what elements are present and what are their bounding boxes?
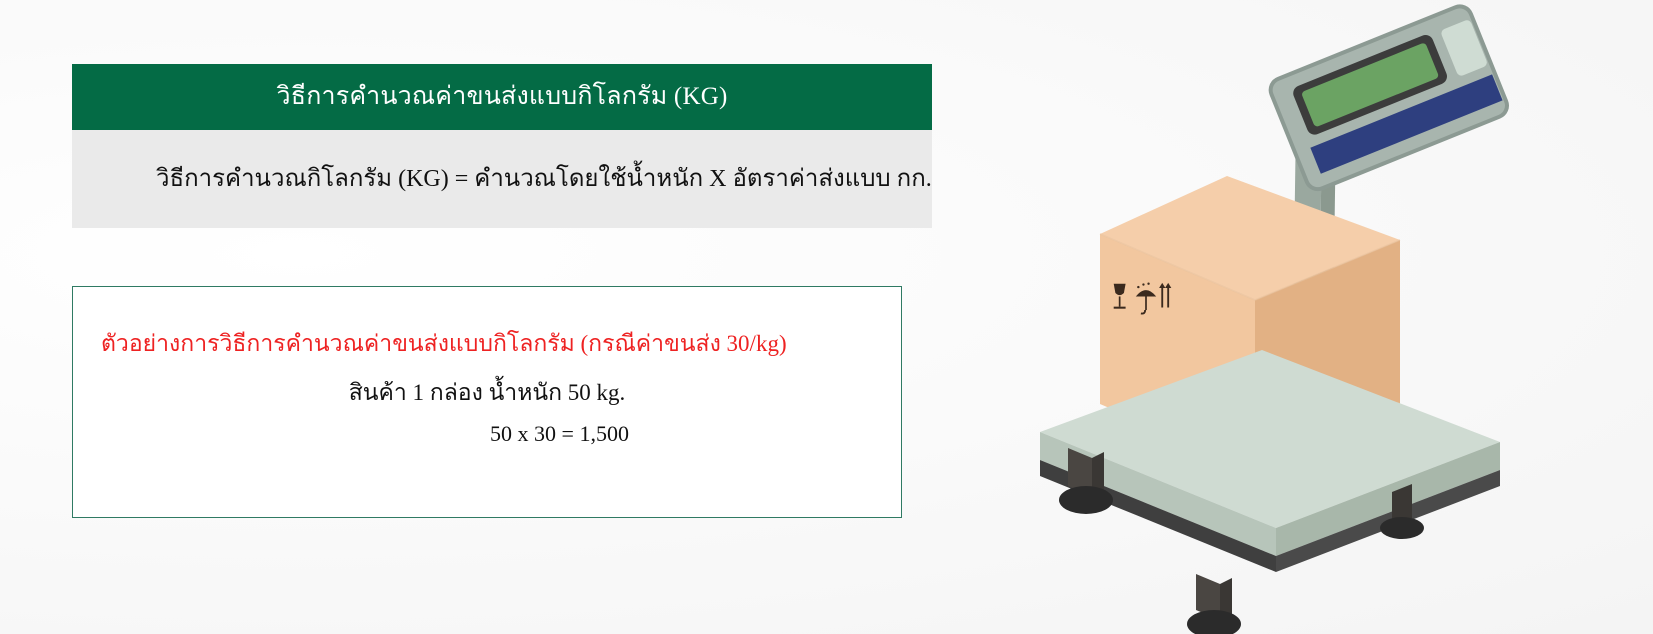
scale-foot-front-right — [1187, 574, 1241, 634]
scale-display-head — [1267, 3, 1511, 193]
example-title: ตัวอย่างการวิธีการคำนวณค่าขนส่งแบบกิโลกร… — [101, 326, 787, 362]
formula-band: วิธีการคำนวณกิโลกรัม (KG) = คำนวณโดยใช้น… — [72, 130, 932, 228]
scale-illustration — [1000, 0, 1560, 634]
content-column: วิธีการคำนวณค่าขนส่งแบบกิโลกรัม (KG) วิธ… — [72, 64, 932, 228]
example-line-weight: สินค้า 1 กล่อง น้ำหนัก 50 kg. — [73, 375, 901, 411]
section-header-bar: วิธีการคำนวณค่าขนส่งแบบกิโลกรัม (KG) — [72, 64, 932, 130]
example-box: ตัวอย่างการวิธีการคำนวณค่าขนส่งแบบกิโลกร… — [72, 286, 902, 518]
slide-canvas: วิธีการคำนวณค่าขนส่งแบบกิโลกรัม (KG) วิธ… — [0, 0, 1653, 634]
example-line-calculation: 50 x 30 = 1,500 — [73, 421, 901, 447]
formula-text: วิธีการคำนวณกิโลกรัม (KG) = คำนวณโดยใช้น… — [156, 164, 932, 194]
page-title: วิธีการคำนวณค่าขนส่งแบบกิโลกรัม (KG) — [277, 82, 728, 112]
